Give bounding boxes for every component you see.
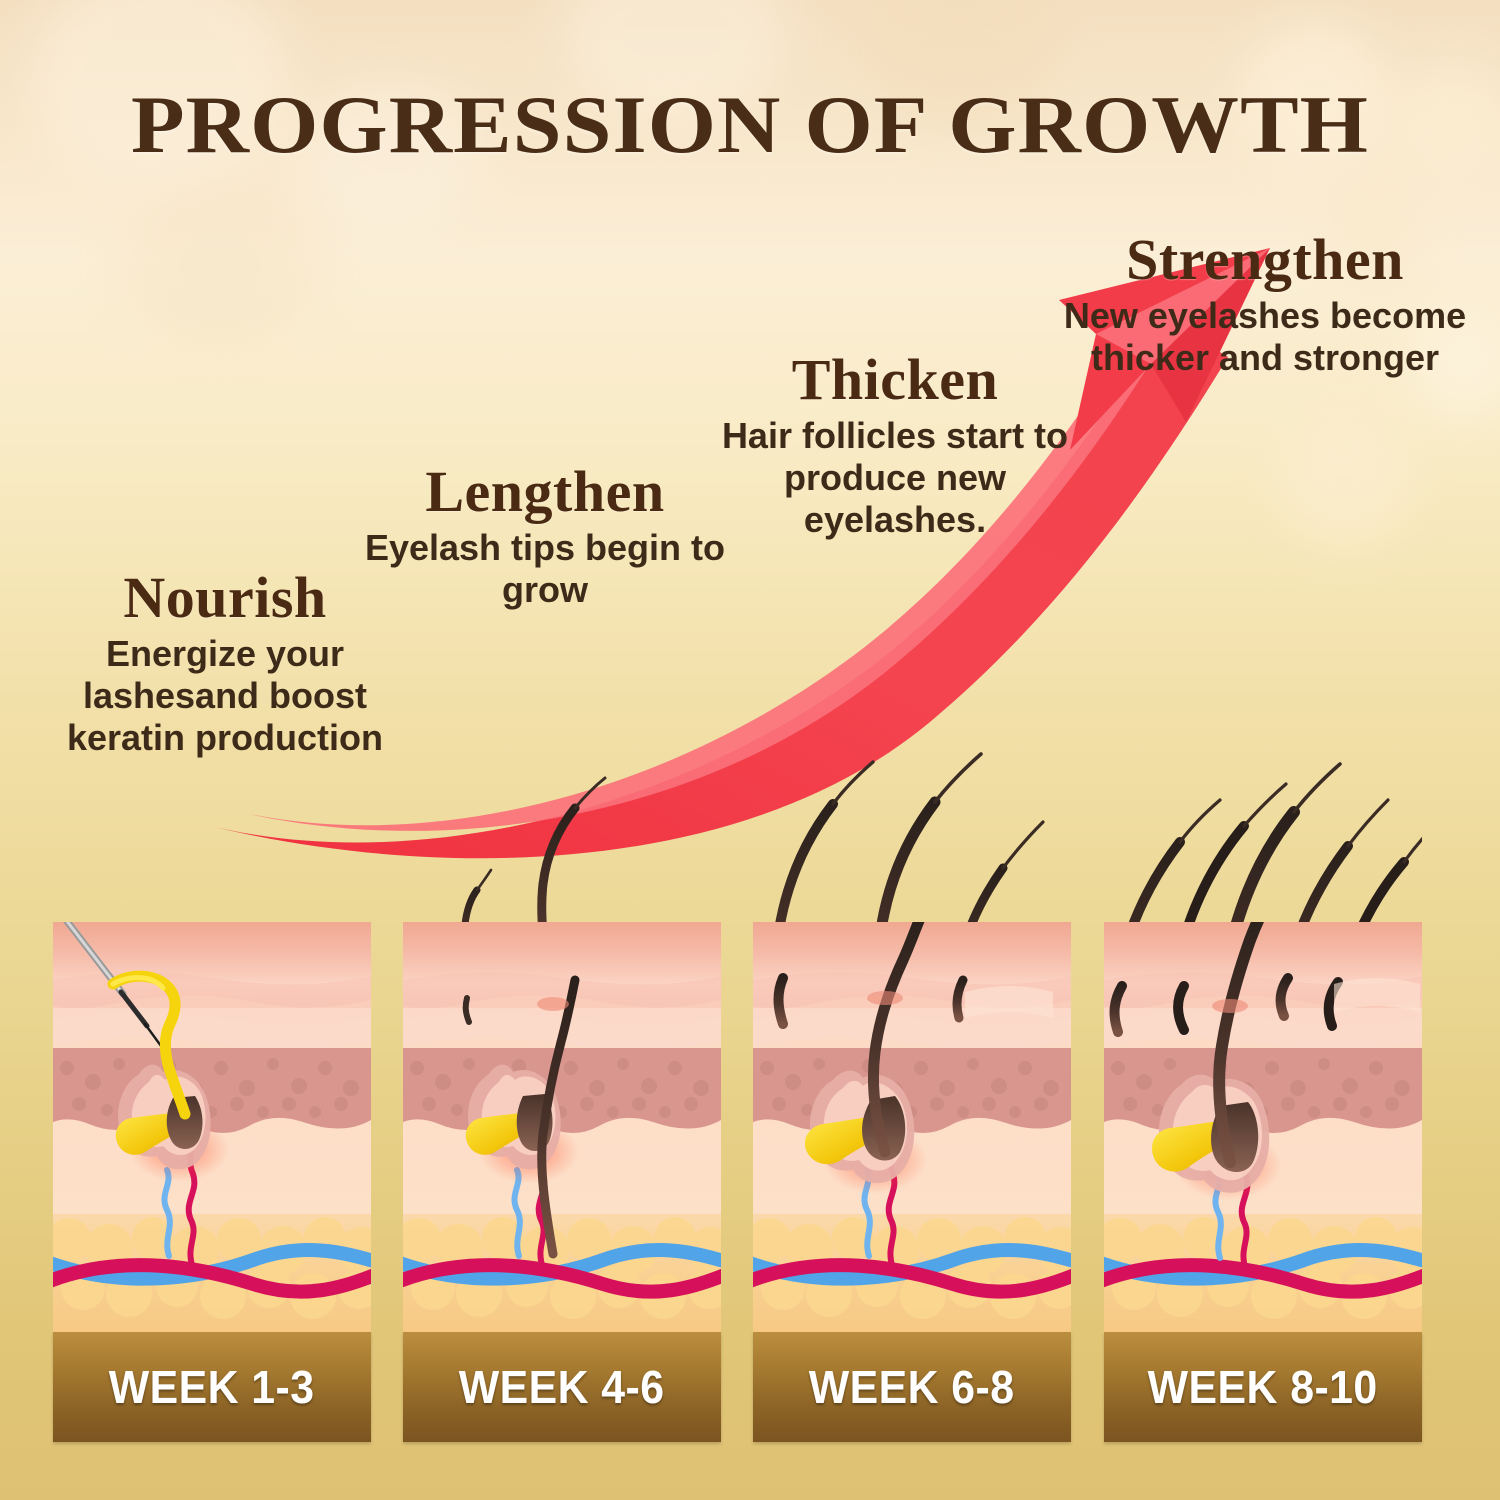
week-label-bar: WEEK 1-3: [53, 1332, 371, 1442]
panel-week-1-3[interactable]: WEEK 1-3: [53, 922, 371, 1442]
week-label: WEEK 1-3: [109, 1360, 315, 1414]
step-heading: Strengthen: [1055, 230, 1475, 289]
panel-week-8-10[interactable]: WEEK 8-10: [1104, 922, 1422, 1442]
step-label-strengthen: Strengthen New eyelashes become thicker …: [1055, 230, 1475, 379]
step-body: New eyelashes become thicker and stronge…: [1055, 295, 1475, 379]
infographic-canvas: PROGRESSION OF GROWTH Nourish Energize y…: [0, 0, 1500, 1500]
week-label-bar: WEEK 8-10: [1104, 1332, 1422, 1442]
step-heading: Lengthen: [355, 462, 735, 521]
step-heading: Thicken: [700, 350, 1090, 409]
step-body: Eyelash tips begin to grow: [355, 527, 735, 611]
skin-cross-section-icon: [403, 922, 721, 1332]
step-body: Hair follicles start to produce new eyel…: [700, 415, 1090, 541]
week-label: WEEK 8-10: [1148, 1360, 1378, 1414]
timeline-panels: WEEK 1-3: [53, 922, 1422, 1442]
panel-week-4-6[interactable]: WEEK 4-6: [403, 922, 721, 1442]
skin-cross-section-icon: [753, 922, 1071, 1332]
week-label-bar: WEEK 6-8: [753, 1332, 1071, 1442]
step-label-thicken: Thicken Hair follicles start to produce …: [700, 350, 1090, 541]
week-label: WEEK 6-8: [809, 1360, 1015, 1414]
panel-week-6-8[interactable]: WEEK 6-8: [753, 922, 1071, 1442]
step-body: Energize your lashesand boost keratin pr…: [30, 633, 420, 759]
skin-cross-section-icon: [53, 922, 371, 1332]
week-label: WEEK 4-6: [459, 1360, 665, 1414]
step-label-lengthen: Lengthen Eyelash tips begin to grow: [355, 462, 735, 611]
skin-cross-section-icon: [1104, 922, 1422, 1332]
week-label-bar: WEEK 4-6: [403, 1332, 721, 1442]
